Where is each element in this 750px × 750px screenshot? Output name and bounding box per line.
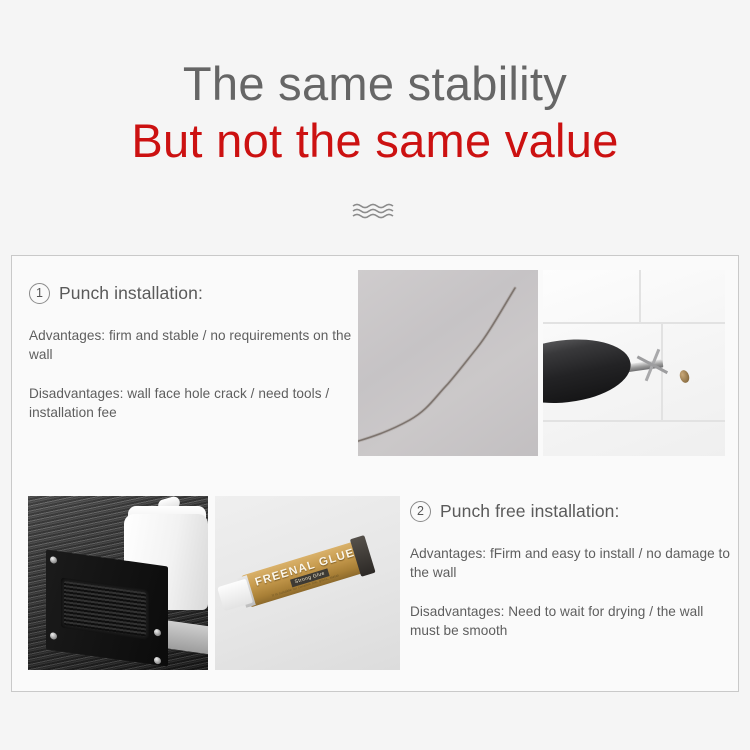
drill-body bbox=[543, 332, 634, 409]
bracket-slats bbox=[64, 581, 146, 637]
wave-divider-icon bbox=[352, 201, 398, 221]
section-1-disadvantages: Disadvantages: wall face hole crack / ne… bbox=[29, 384, 359, 423]
section-1-heading: 1 Punch installation: bbox=[29, 283, 359, 304]
bracket-opening bbox=[61, 578, 149, 640]
bracket-screw bbox=[154, 657, 161, 665]
section-1-text-block: 1 Punch installation: Advantages: firm a… bbox=[29, 283, 359, 422]
drilled-hole bbox=[678, 369, 691, 384]
tile-grout-line bbox=[639, 270, 641, 322]
section-2-text-block: 2 Punch free installation: Advantages: f… bbox=[410, 501, 732, 640]
black-bracket-photo bbox=[28, 496, 208, 670]
section-2-heading: 2 Punch free installation: bbox=[410, 501, 732, 522]
glue-tube: FREENAL GLUE Strong Glue It is suitable … bbox=[241, 541, 363, 607]
drill-into-tile-photo bbox=[543, 270, 725, 456]
wall-crack-icon bbox=[358, 270, 538, 456]
cracked-wall-photo bbox=[358, 270, 538, 456]
page-title-sub: But not the same value bbox=[0, 115, 750, 168]
bracket-screw bbox=[50, 632, 57, 640]
wave-divider bbox=[0, 201, 750, 221]
page-title-main: The same stability bbox=[0, 58, 750, 111]
section-2-disadvantages: Disadvantages: Need to wait for drying /… bbox=[410, 602, 732, 641]
step-number-1-badge: 1 bbox=[29, 283, 50, 304]
section-2-advantages: Advantages: fFirm and easy to install / … bbox=[410, 544, 732, 583]
page-header: The same stability But not the same valu… bbox=[0, 0, 750, 167]
section-2-title: Punch free installation: bbox=[440, 501, 619, 522]
tile-grout-line bbox=[543, 420, 725, 422]
tile-grout-line bbox=[543, 322, 725, 324]
section-1-title: Punch installation: bbox=[59, 283, 203, 304]
black-metal-bracket bbox=[46, 549, 168, 666]
step-number-2-badge: 2 bbox=[410, 501, 431, 522]
bracket-screw bbox=[50, 556, 57, 564]
section-1-advantages: Advantages: firm and stable / no require… bbox=[29, 326, 359, 365]
glue-tube-photo: FREENAL GLUE Strong Glue It is suitable … bbox=[215, 496, 400, 670]
bracket-screw bbox=[154, 629, 161, 637]
